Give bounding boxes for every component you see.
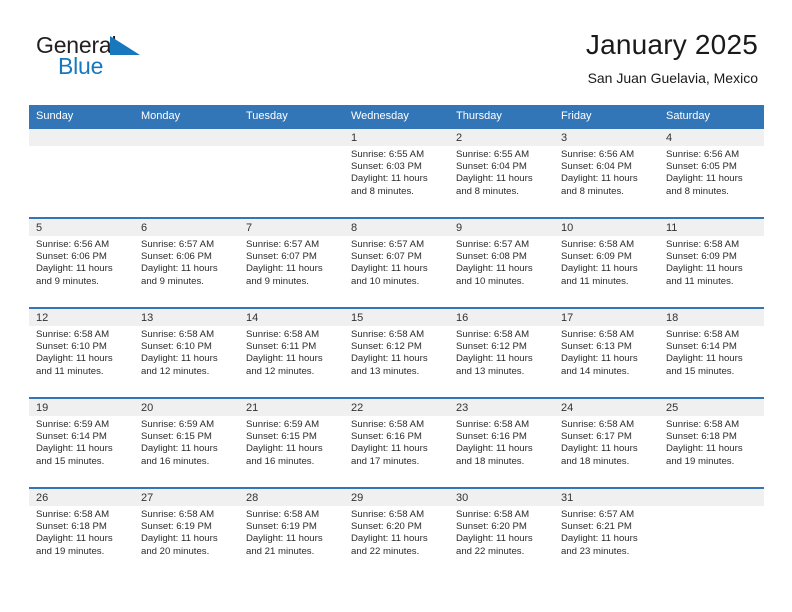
- sunset-text: Sunset: 6:09 PM: [666, 251, 759, 263]
- sunset-text: Sunset: 6:13 PM: [561, 341, 654, 353]
- day-number: 10: [554, 219, 659, 236]
- calendar-body: 1Sunrise: 6:55 AMSunset: 6:03 PMDaylight…: [29, 128, 764, 578]
- sunset-text: Sunset: 6:07 PM: [351, 251, 444, 263]
- sunrise-text: Sunrise: 6:58 AM: [561, 239, 654, 251]
- day-cell[interactable]: 24Sunrise: 6:58 AMSunset: 6:17 PMDayligh…: [554, 398, 659, 488]
- title-block: January 2025 San Juan Guelavia, Mexico: [586, 28, 758, 88]
- sunset-text: Sunset: 6:19 PM: [141, 521, 234, 533]
- sunrise-text: Sunrise: 6:57 AM: [246, 239, 339, 251]
- triangle-icon: [110, 36, 140, 55]
- sunrise-text: Sunrise: 6:58 AM: [561, 419, 654, 431]
- daylight-text-line2: and 15 minutes.: [36, 456, 129, 468]
- day-details: Sunrise: 6:58 AMSunset: 6:20 PMDaylight:…: [449, 506, 554, 558]
- day-cell[interactable]: 25Sunrise: 6:58 AMSunset: 6:18 PMDayligh…: [659, 398, 764, 488]
- day-cell[interactable]: 30Sunrise: 6:58 AMSunset: 6:20 PMDayligh…: [449, 488, 554, 578]
- sunrise-text: Sunrise: 6:55 AM: [351, 149, 444, 161]
- day-number: 25: [659, 399, 764, 416]
- day-cell[interactable]: 26Sunrise: 6:58 AMSunset: 6:18 PMDayligh…: [29, 488, 134, 578]
- day-details: Sunrise: 6:58 AMSunset: 6:19 PMDaylight:…: [239, 506, 344, 558]
- daylight-text-line1: Daylight: 11 hours: [351, 443, 444, 455]
- day-details: Sunrise: 6:57 AMSunset: 6:07 PMDaylight:…: [239, 236, 344, 288]
- sunset-text: Sunset: 6:16 PM: [456, 431, 549, 443]
- day-details: Sunrise: 6:58 AMSunset: 6:09 PMDaylight:…: [554, 236, 659, 288]
- sunrise-text: Sunrise: 6:59 AM: [36, 419, 129, 431]
- daylight-text-line2: and 20 minutes.: [141, 546, 234, 558]
- sunset-text: Sunset: 6:04 PM: [561, 161, 654, 173]
- day-number: 23: [449, 399, 554, 416]
- sunrise-text: Sunrise: 6:55 AM: [456, 149, 549, 161]
- day-number: 29: [344, 489, 449, 506]
- sunrise-text: Sunrise: 6:58 AM: [666, 419, 759, 431]
- sunrise-text: Sunrise: 6:58 AM: [36, 509, 129, 521]
- sunset-text: Sunset: 6:10 PM: [36, 341, 129, 353]
- daylight-text-line1: Daylight: 11 hours: [456, 533, 549, 545]
- daylight-text-line1: Daylight: 11 hours: [141, 353, 234, 365]
- daylight-text-line2: and 10 minutes.: [456, 276, 549, 288]
- sunrise-text: Sunrise: 6:57 AM: [561, 509, 654, 521]
- calendar-week-row: 12Sunrise: 6:58 AMSunset: 6:10 PMDayligh…: [29, 308, 764, 398]
- day-details: Sunrise: 6:58 AMSunset: 6:12 PMDaylight:…: [344, 326, 449, 378]
- day-details: Sunrise: 6:57 AMSunset: 6:06 PMDaylight:…: [134, 236, 239, 288]
- day-cell[interactable]: 5Sunrise: 6:56 AMSunset: 6:06 PMDaylight…: [29, 218, 134, 308]
- day-cell[interactable]: 7Sunrise: 6:57 AMSunset: 6:07 PMDaylight…: [239, 218, 344, 308]
- day-cell[interactable]: 29Sunrise: 6:58 AMSunset: 6:20 PMDayligh…: [344, 488, 449, 578]
- sunrise-text: Sunrise: 6:58 AM: [456, 509, 549, 521]
- daylight-text-line1: Daylight: 11 hours: [351, 173, 444, 185]
- day-details: Sunrise: 6:58 AMSunset: 6:12 PMDaylight:…: [449, 326, 554, 378]
- daylight-text-line1: Daylight: 11 hours: [351, 263, 444, 275]
- day-cell[interactable]: 4Sunrise: 6:56 AMSunset: 6:05 PMDaylight…: [659, 128, 764, 218]
- daylight-text-line1: Daylight: 11 hours: [246, 443, 339, 455]
- sunset-text: Sunset: 6:06 PM: [36, 251, 129, 263]
- daylight-text-line1: Daylight: 11 hours: [666, 263, 759, 275]
- daylight-text-line1: Daylight: 11 hours: [246, 533, 339, 545]
- sunrise-text: Sunrise: 6:58 AM: [141, 509, 234, 521]
- sunset-text: Sunset: 6:12 PM: [456, 341, 549, 353]
- day-number: 14: [239, 309, 344, 326]
- sunset-text: Sunset: 6:15 PM: [141, 431, 234, 443]
- daylight-text-line2: and 11 minutes.: [36, 366, 129, 378]
- day-cell[interactable]: 14Sunrise: 6:58 AMSunset: 6:11 PMDayligh…: [239, 308, 344, 398]
- daylight-text-line1: Daylight: 11 hours: [561, 353, 654, 365]
- day-cell[interactable]: 17Sunrise: 6:58 AMSunset: 6:13 PMDayligh…: [554, 308, 659, 398]
- day-details: Sunrise: 6:59 AMSunset: 6:15 PMDaylight:…: [239, 416, 344, 468]
- day-number: 1: [344, 129, 449, 146]
- daylight-text-line2: and 18 minutes.: [561, 456, 654, 468]
- calendar-header-row: SundayMondayTuesdayWednesdayThursdayFrid…: [29, 105, 764, 128]
- day-number: [29, 129, 134, 146]
- day-cell[interactable]: 20Sunrise: 6:59 AMSunset: 6:15 PMDayligh…: [134, 398, 239, 488]
- daylight-text-line2: and 9 minutes.: [36, 276, 129, 288]
- day-number: 22: [344, 399, 449, 416]
- day-details: Sunrise: 6:56 AMSunset: 6:05 PMDaylight:…: [659, 146, 764, 198]
- daylight-text-line1: Daylight: 11 hours: [36, 263, 129, 275]
- daylight-text-line1: Daylight: 11 hours: [456, 353, 549, 365]
- day-cell[interactable]: 8Sunrise: 6:57 AMSunset: 6:07 PMDaylight…: [344, 218, 449, 308]
- weekday-header-saturday: Saturday: [659, 105, 764, 128]
- daylight-text-line1: Daylight: 11 hours: [36, 443, 129, 455]
- calendar-week-row: 1Sunrise: 6:55 AMSunset: 6:03 PMDaylight…: [29, 128, 764, 218]
- day-number: 11: [659, 219, 764, 236]
- day-cell[interactable]: 1Sunrise: 6:55 AMSunset: 6:03 PMDaylight…: [344, 128, 449, 218]
- day-details: Sunrise: 6:57 AMSunset: 6:08 PMDaylight:…: [449, 236, 554, 288]
- day-cell[interactable]: 18Sunrise: 6:58 AMSunset: 6:14 PMDayligh…: [659, 308, 764, 398]
- day-cell-empty: [659, 488, 764, 578]
- day-details: Sunrise: 6:58 AMSunset: 6:18 PMDaylight:…: [29, 506, 134, 558]
- sunrise-text: Sunrise: 6:56 AM: [666, 149, 759, 161]
- sunrise-text: Sunrise: 6:58 AM: [666, 239, 759, 251]
- daylight-text-line1: Daylight: 11 hours: [561, 533, 654, 545]
- day-cell-empty: [134, 128, 239, 218]
- day-cell[interactable]: 3Sunrise: 6:56 AMSunset: 6:04 PMDaylight…: [554, 128, 659, 218]
- day-cell[interactable]: 27Sunrise: 6:58 AMSunset: 6:19 PMDayligh…: [134, 488, 239, 578]
- sunset-text: Sunset: 6:14 PM: [36, 431, 129, 443]
- daylight-text-line2: and 8 minutes.: [456, 186, 549, 198]
- day-number: 9: [449, 219, 554, 236]
- weekday-header-tuesday: Tuesday: [239, 105, 344, 128]
- sunrise-text: Sunrise: 6:58 AM: [351, 509, 444, 521]
- daylight-text-line1: Daylight: 11 hours: [141, 263, 234, 275]
- day-details: Sunrise: 6:58 AMSunset: 6:14 PMDaylight:…: [659, 326, 764, 378]
- sunrise-text: Sunrise: 6:56 AM: [561, 149, 654, 161]
- daylight-text-line1: Daylight: 11 hours: [141, 443, 234, 455]
- page-subtitle: San Juan Guelavia, Mexico: [586, 68, 758, 88]
- day-cell[interactable]: 19Sunrise: 6:59 AMSunset: 6:14 PMDayligh…: [29, 398, 134, 488]
- sunset-text: Sunset: 6:11 PM: [246, 341, 339, 353]
- day-number: 5: [29, 219, 134, 236]
- page-header: General Blue January 2025 San Juan Guela…: [0, 0, 792, 104]
- day-details: Sunrise: 6:58 AMSunset: 6:13 PMDaylight:…: [554, 326, 659, 378]
- daylight-text-line2: and 13 minutes.: [456, 366, 549, 378]
- day-number: [134, 129, 239, 146]
- daylight-text-line2: and 22 minutes.: [456, 546, 549, 558]
- day-cell[interactable]: 2Sunrise: 6:55 AMSunset: 6:04 PMDaylight…: [449, 128, 554, 218]
- day-number: 20: [134, 399, 239, 416]
- daylight-text-line1: Daylight: 11 hours: [456, 263, 549, 275]
- sunset-text: Sunset: 6:17 PM: [561, 431, 654, 443]
- day-details: Sunrise: 6:55 AMSunset: 6:03 PMDaylight:…: [344, 146, 449, 198]
- daylight-text-line1: Daylight: 11 hours: [456, 173, 549, 185]
- day-details: Sunrise: 6:56 AMSunset: 6:04 PMDaylight:…: [554, 146, 659, 198]
- sunset-text: Sunset: 6:20 PM: [456, 521, 549, 533]
- day-number: 31: [554, 489, 659, 506]
- day-number: 17: [554, 309, 659, 326]
- daylight-text-line1: Daylight: 11 hours: [561, 443, 654, 455]
- day-details: Sunrise: 6:58 AMSunset: 6:10 PMDaylight:…: [29, 326, 134, 378]
- calendar-week-row: 19Sunrise: 6:59 AMSunset: 6:14 PMDayligh…: [29, 398, 764, 488]
- daylight-text-line2: and 13 minutes.: [351, 366, 444, 378]
- daylight-text-line2: and 21 minutes.: [246, 546, 339, 558]
- day-number: [239, 129, 344, 146]
- daylight-text-line2: and 10 minutes.: [351, 276, 444, 288]
- daylight-text-line1: Daylight: 11 hours: [141, 533, 234, 545]
- daylight-text-line2: and 15 minutes.: [666, 366, 759, 378]
- sunset-text: Sunset: 6:04 PM: [456, 161, 549, 173]
- sunset-text: Sunset: 6:19 PM: [246, 521, 339, 533]
- sunrise-text: Sunrise: 6:58 AM: [666, 329, 759, 341]
- sunrise-text: Sunrise: 6:56 AM: [36, 239, 129, 251]
- sunrise-text: Sunrise: 6:58 AM: [561, 329, 654, 341]
- day-number: 28: [239, 489, 344, 506]
- calendar-week-row: 5Sunrise: 6:56 AMSunset: 6:06 PMDaylight…: [29, 218, 764, 308]
- day-details: Sunrise: 6:57 AMSunset: 6:07 PMDaylight:…: [344, 236, 449, 288]
- weekday-header-thursday: Thursday: [449, 105, 554, 128]
- day-cell[interactable]: 12Sunrise: 6:58 AMSunset: 6:10 PMDayligh…: [29, 308, 134, 398]
- weekday-header-wednesday: Wednesday: [344, 105, 449, 128]
- general-blue-logo: General Blue: [36, 32, 216, 88]
- daylight-text-line2: and 22 minutes.: [351, 546, 444, 558]
- daylight-text-line2: and 8 minutes.: [666, 186, 759, 198]
- daylight-text-line1: Daylight: 11 hours: [561, 263, 654, 275]
- page-title: January 2025: [586, 28, 758, 62]
- sunset-text: Sunset: 6:14 PM: [666, 341, 759, 353]
- sunset-text: Sunset: 6:09 PM: [561, 251, 654, 263]
- logo-text-blue: Blue: [58, 53, 103, 80]
- day-number: 2: [449, 129, 554, 146]
- weekday-header-sunday: Sunday: [29, 105, 134, 128]
- day-details: Sunrise: 6:58 AMSunset: 6:18 PMDaylight:…: [659, 416, 764, 468]
- day-details: Sunrise: 6:58 AMSunset: 6:17 PMDaylight:…: [554, 416, 659, 468]
- day-number: 13: [134, 309, 239, 326]
- sunrise-text: Sunrise: 6:58 AM: [246, 509, 339, 521]
- day-details: Sunrise: 6:58 AMSunset: 6:10 PMDaylight:…: [134, 326, 239, 378]
- sunset-text: Sunset: 6:06 PM: [141, 251, 234, 263]
- day-number: 8: [344, 219, 449, 236]
- day-details: Sunrise: 6:58 AMSunset: 6:20 PMDaylight:…: [344, 506, 449, 558]
- daylight-text-line1: Daylight: 11 hours: [351, 353, 444, 365]
- daylight-text-line2: and 16 minutes.: [246, 456, 339, 468]
- daylight-text-line2: and 9 minutes.: [246, 276, 339, 288]
- sunset-text: Sunset: 6:03 PM: [351, 161, 444, 173]
- sunrise-text: Sunrise: 6:58 AM: [36, 329, 129, 341]
- sunset-text: Sunset: 6:20 PM: [351, 521, 444, 533]
- day-number: 4: [659, 129, 764, 146]
- daylight-text-line2: and 17 minutes.: [351, 456, 444, 468]
- sunrise-text: Sunrise: 6:58 AM: [456, 329, 549, 341]
- day-cell[interactable]: 16Sunrise: 6:58 AMSunset: 6:12 PMDayligh…: [449, 308, 554, 398]
- day-cell[interactable]: 11Sunrise: 6:58 AMSunset: 6:09 PMDayligh…: [659, 218, 764, 308]
- day-details: Sunrise: 6:56 AMSunset: 6:06 PMDaylight:…: [29, 236, 134, 288]
- calendar-page: General Blue January 2025 San Juan Guela…: [0, 0, 792, 612]
- day-number: 18: [659, 309, 764, 326]
- day-number: 16: [449, 309, 554, 326]
- day-details: Sunrise: 6:59 AMSunset: 6:14 PMDaylight:…: [29, 416, 134, 468]
- calendar-grid: SundayMondayTuesdayWednesdayThursdayFrid…: [29, 105, 764, 578]
- calendar-week-row: 26Sunrise: 6:58 AMSunset: 6:18 PMDayligh…: [29, 488, 764, 578]
- day-details: Sunrise: 6:58 AMSunset: 6:16 PMDaylight:…: [344, 416, 449, 468]
- day-number: 6: [134, 219, 239, 236]
- day-cell[interactable]: 6Sunrise: 6:57 AMSunset: 6:06 PMDaylight…: [134, 218, 239, 308]
- daylight-text-line2: and 19 minutes.: [36, 546, 129, 558]
- day-cell-empty: [239, 128, 344, 218]
- day-number: 21: [239, 399, 344, 416]
- daylight-text-line1: Daylight: 11 hours: [36, 353, 129, 365]
- sunrise-text: Sunrise: 6:57 AM: [351, 239, 444, 251]
- sunrise-text: Sunrise: 6:57 AM: [456, 239, 549, 251]
- day-number: 24: [554, 399, 659, 416]
- daylight-text-line2: and 23 minutes.: [561, 546, 654, 558]
- day-details: Sunrise: 6:58 AMSunset: 6:11 PMDaylight:…: [239, 326, 344, 378]
- daylight-text-line2: and 11 minutes.: [561, 276, 654, 288]
- daylight-text-line1: Daylight: 11 hours: [246, 263, 339, 275]
- day-number: 30: [449, 489, 554, 506]
- day-details: Sunrise: 6:58 AMSunset: 6:19 PMDaylight:…: [134, 506, 239, 558]
- daylight-text-line1: Daylight: 11 hours: [666, 173, 759, 185]
- sunset-text: Sunset: 6:18 PM: [36, 521, 129, 533]
- daylight-text-line1: Daylight: 11 hours: [36, 533, 129, 545]
- sunrise-text: Sunrise: 6:58 AM: [141, 329, 234, 341]
- sunset-text: Sunset: 6:05 PM: [666, 161, 759, 173]
- day-cell[interactable]: 22Sunrise: 6:58 AMSunset: 6:16 PMDayligh…: [344, 398, 449, 488]
- daylight-text-line2: and 19 minutes.: [666, 456, 759, 468]
- day-details: Sunrise: 6:55 AMSunset: 6:04 PMDaylight:…: [449, 146, 554, 198]
- day-cell[interactable]: 28Sunrise: 6:58 AMSunset: 6:19 PMDayligh…: [239, 488, 344, 578]
- daylight-text-line2: and 14 minutes.: [561, 366, 654, 378]
- sunset-text: Sunset: 6:12 PM: [351, 341, 444, 353]
- sunset-text: Sunset: 6:08 PM: [456, 251, 549, 263]
- day-details: Sunrise: 6:58 AMSunset: 6:09 PMDaylight:…: [659, 236, 764, 288]
- daylight-text-line1: Daylight: 11 hours: [246, 353, 339, 365]
- sunset-text: Sunset: 6:21 PM: [561, 521, 654, 533]
- sunrise-text: Sunrise: 6:58 AM: [246, 329, 339, 341]
- weekday-header-monday: Monday: [134, 105, 239, 128]
- sunrise-text: Sunrise: 6:58 AM: [456, 419, 549, 431]
- day-cell-empty: [29, 128, 134, 218]
- day-number: [659, 489, 764, 506]
- day-number: 3: [554, 129, 659, 146]
- daylight-text-line2: and 16 minutes.: [141, 456, 234, 468]
- daylight-text-line2: and 18 minutes.: [456, 456, 549, 468]
- daylight-text-line1: Daylight: 11 hours: [666, 443, 759, 455]
- sunrise-text: Sunrise: 6:59 AM: [141, 419, 234, 431]
- daylight-text-line2: and 12 minutes.: [141, 366, 234, 378]
- daylight-text-line2: and 8 minutes.: [561, 186, 654, 198]
- sunset-text: Sunset: 6:10 PM: [141, 341, 234, 353]
- daylight-text-line2: and 12 minutes.: [246, 366, 339, 378]
- sunrise-text: Sunrise: 6:57 AM: [141, 239, 234, 251]
- day-cell[interactable]: 21Sunrise: 6:59 AMSunset: 6:15 PMDayligh…: [239, 398, 344, 488]
- day-cell[interactable]: 13Sunrise: 6:58 AMSunset: 6:10 PMDayligh…: [134, 308, 239, 398]
- day-cell[interactable]: 10Sunrise: 6:58 AMSunset: 6:09 PMDayligh…: [554, 218, 659, 308]
- day-details: Sunrise: 6:58 AMSunset: 6:16 PMDaylight:…: [449, 416, 554, 468]
- daylight-text-line1: Daylight: 11 hours: [456, 443, 549, 455]
- day-cell[interactable]: 23Sunrise: 6:58 AMSunset: 6:16 PMDayligh…: [449, 398, 554, 488]
- weekday-header-friday: Friday: [554, 105, 659, 128]
- day-number: 26: [29, 489, 134, 506]
- sunset-text: Sunset: 6:18 PM: [666, 431, 759, 443]
- sunrise-text: Sunrise: 6:58 AM: [351, 329, 444, 341]
- daylight-text-line1: Daylight: 11 hours: [561, 173, 654, 185]
- daylight-text-line2: and 9 minutes.: [141, 276, 234, 288]
- day-cell[interactable]: 9Sunrise: 6:57 AMSunset: 6:08 PMDaylight…: [449, 218, 554, 308]
- daylight-text-line2: and 8 minutes.: [351, 186, 444, 198]
- day-number: 19: [29, 399, 134, 416]
- day-cell[interactable]: 15Sunrise: 6:58 AMSunset: 6:12 PMDayligh…: [344, 308, 449, 398]
- day-number: 27: [134, 489, 239, 506]
- day-number: 15: [344, 309, 449, 326]
- day-number: 7: [239, 219, 344, 236]
- daylight-text-line1: Daylight: 11 hours: [351, 533, 444, 545]
- sunrise-text: Sunrise: 6:59 AM: [246, 419, 339, 431]
- day-details: Sunrise: 6:59 AMSunset: 6:15 PMDaylight:…: [134, 416, 239, 468]
- day-cell[interactable]: 31Sunrise: 6:57 AMSunset: 6:21 PMDayligh…: [554, 488, 659, 578]
- day-number: 12: [29, 309, 134, 326]
- daylight-text-line2: and 11 minutes.: [666, 276, 759, 288]
- sunset-text: Sunset: 6:16 PM: [351, 431, 444, 443]
- day-details: Sunrise: 6:57 AMSunset: 6:21 PMDaylight:…: [554, 506, 659, 558]
- sunset-text: Sunset: 6:07 PM: [246, 251, 339, 263]
- sunrise-text: Sunrise: 6:58 AM: [351, 419, 444, 431]
- sunset-text: Sunset: 6:15 PM: [246, 431, 339, 443]
- daylight-text-line1: Daylight: 11 hours: [666, 353, 759, 365]
